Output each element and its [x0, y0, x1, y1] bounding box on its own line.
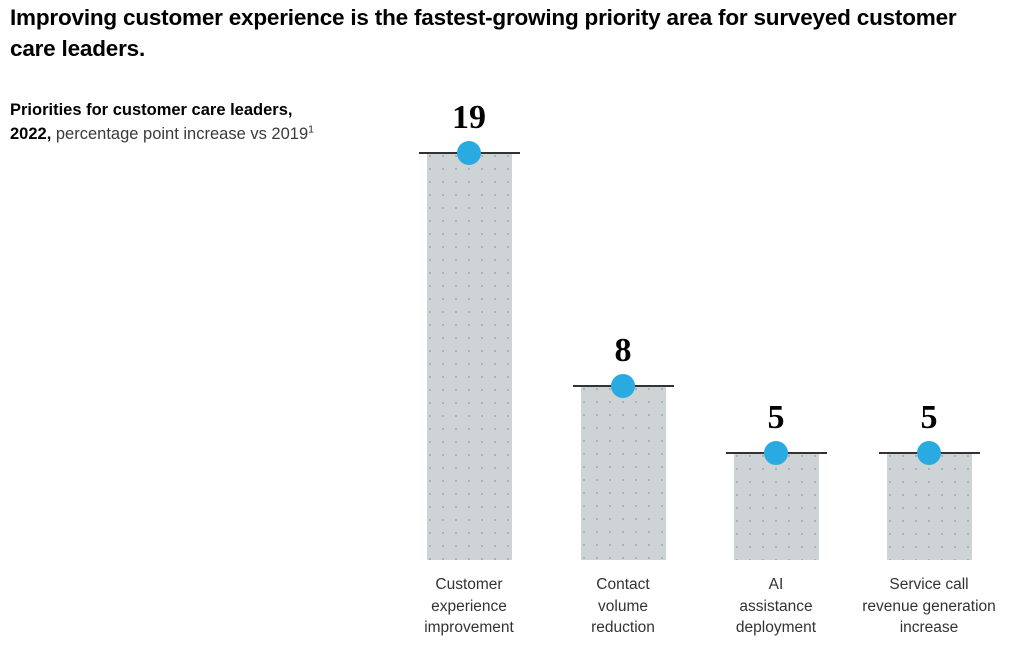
- category-label-line: AI: [696, 574, 856, 596]
- category-label: AI assistance deployment: [696, 574, 856, 639]
- category-label-line: improvement: [389, 617, 549, 639]
- bar-rect: [734, 453, 819, 560]
- bar-marker-dot: [611, 374, 635, 398]
- category-label-line: reduction: [543, 617, 703, 639]
- bar-value-label: 8: [563, 334, 683, 368]
- bar-rect: [581, 386, 666, 560]
- bar-value-label: 19: [409, 101, 529, 135]
- bar-rect: [427, 153, 512, 560]
- bar-value-label: 5: [869, 401, 989, 435]
- category-label-line: experience: [389, 596, 549, 618]
- category-label-line: deployment: [696, 617, 856, 639]
- category-label-line: Service call: [849, 574, 1009, 596]
- category-label: Contact volume reduction: [543, 574, 703, 639]
- category-label-line: Customer: [389, 574, 549, 596]
- category-label: Customer experience improvement: [389, 574, 549, 639]
- category-label-line: volume: [543, 596, 703, 618]
- category-label-line: increase: [849, 617, 1009, 639]
- bar-chart-plot-area: 19 Customer experience improvement 8 Con…: [0, 0, 1024, 668]
- bar-marker-dot: [917, 441, 941, 465]
- bar-marker-dot: [457, 141, 481, 165]
- category-label-line: Contact: [543, 574, 703, 596]
- category-label-line: assistance: [696, 596, 856, 618]
- category-label-line: revenue generation: [849, 596, 1009, 618]
- category-label: Service call revenue generation increase: [849, 574, 1009, 639]
- bar-value-label: 5: [716, 401, 836, 435]
- bar-rect: [887, 453, 972, 560]
- bar-marker-dot: [764, 441, 788, 465]
